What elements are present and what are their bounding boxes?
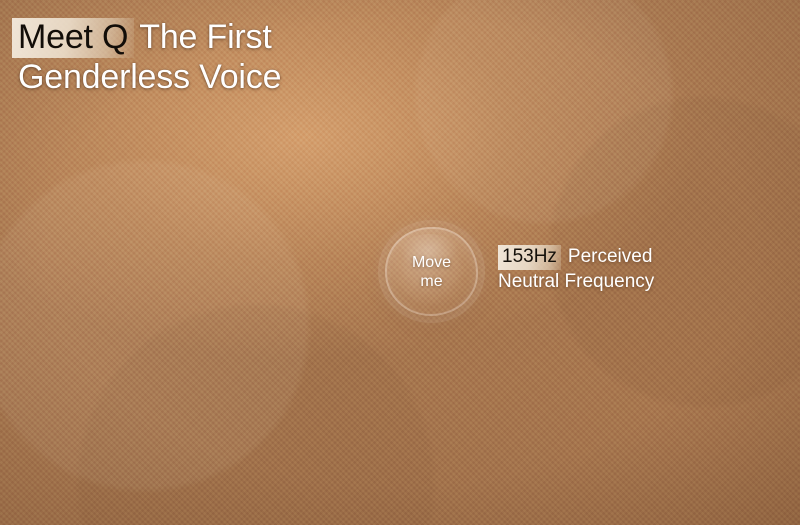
headline-line-1: Meet QThe First	[18, 18, 538, 58]
blob-label-line-2: me	[420, 273, 442, 290]
headline-highlight-chip: Meet Q	[12, 18, 134, 58]
canvas-stage: Meet QThe First Genderless Voice Move me…	[0, 0, 800, 525]
frequency-caption-line-2: Neutral Frequency	[498, 270, 768, 294]
frequency-caption-line-1: Perceived	[568, 246, 653, 267]
draggable-voice-blob[interactable]: Move me	[385, 227, 478, 316]
blob-label-line-1: Move	[412, 254, 451, 271]
headline-line-2: Genderless Voice	[18, 58, 538, 97]
frequency-readout: 153HzPerceived Neutral Frequency	[498, 245, 768, 294]
frequency-value: 153Hz	[498, 245, 561, 270]
page-title: Meet QThe First Genderless Voice	[18, 18, 538, 97]
blob-label: Move me	[412, 253, 451, 291]
headline-line-1-rest: The First	[139, 18, 271, 56]
